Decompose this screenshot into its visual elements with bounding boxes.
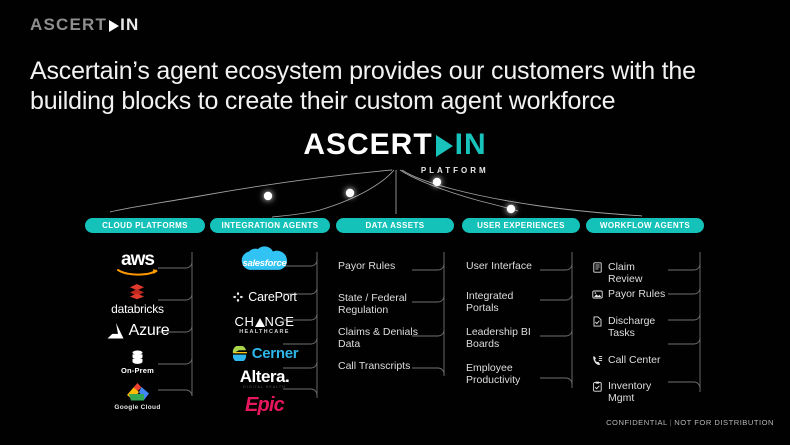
- slide-canvas: ASCERT IN Ascertain’s agent ecosystem pr…: [0, 0, 790, 445]
- pill-user-experiences[interactable]: USER EXPERIENCES: [462, 218, 580, 233]
- brand-suffix: IN: [120, 15, 139, 35]
- aws-label: aws: [117, 252, 159, 267]
- document-lines-icon: [592, 262, 603, 273]
- list-item: Payor Rules: [592, 288, 672, 315]
- list-item: Employee Productivity: [466, 362, 544, 394]
- list-item: Integrated Portals: [466, 290, 544, 326]
- epic-label: Epic: [245, 394, 284, 417]
- play-triangle-icon: [436, 135, 453, 157]
- platform-logo-prefix: ASCERT: [303, 128, 432, 162]
- databricks-mark-icon: [129, 283, 145, 300]
- pill-cloud-platforms[interactable]: CLOUD PLATFORMS: [85, 218, 205, 233]
- list-item: Claim Review: [592, 261, 672, 288]
- list-item-label: Inventory Mgmt: [608, 380, 672, 404]
- triangle-a-icon: [255, 318, 265, 327]
- pill-workflow-agents[interactable]: WORKFLOW AGENTS: [586, 218, 704, 233]
- list-item: Payor Rules: [338, 260, 418, 292]
- list-item-label: Call Center: [608, 354, 661, 366]
- list-item: Discharge Tasks: [592, 315, 672, 354]
- logo-databricks: databricks: [85, 282, 190, 316]
- databricks-label: databricks: [111, 302, 164, 316]
- azure-mark-icon: [106, 322, 126, 340]
- list-item: Leadership BI Boards: [466, 326, 544, 362]
- list-item-label: Claim Review: [608, 261, 672, 285]
- footer-right: NOT FOR DISTRIBUTION: [674, 418, 774, 427]
- page-title: Ascertain’s agent ecosystem provides our…: [30, 56, 760, 116]
- logo-salesforce: salesforce: [212, 244, 317, 284]
- cerner-mark-icon: [231, 346, 249, 361]
- column-workflow-agents: Claim Review Payor Rules Discharge Tasks…: [592, 261, 672, 419]
- list-item: Call Center: [592, 354, 672, 380]
- logo-change-healthcare: CHNGE HEALTHCARE: [212, 310, 317, 340]
- list-item-label: Discharge Tasks: [608, 315, 672, 339]
- platform-logo: ASCERT IN PLATFORM: [0, 128, 790, 162]
- connector-nodes: [264, 178, 515, 213]
- logo-altera: Altera. DIGITAL HEALTH: [212, 366, 317, 392]
- azure-label: Azure: [129, 322, 170, 340]
- list-item: State / Federal Regulation: [338, 292, 418, 326]
- platform-logo-subtitle: PLATFORM: [421, 166, 489, 175]
- list-item-label: Payor Rules: [608, 288, 665, 300]
- careport-mark-icon: [232, 291, 244, 303]
- logo-azure: Azure: [85, 316, 190, 346]
- cerner-label: Cerner: [252, 345, 299, 362]
- google-cloud-label: Google Cloud: [114, 404, 160, 411]
- ascertain-brand-logo: ASCERT IN: [30, 15, 140, 35]
- logo-aws: aws: [85, 246, 190, 282]
- card-image-icon: [592, 289, 603, 300]
- careport-label: CarePort: [248, 290, 296, 304]
- google-cloud-mark-icon: [124, 382, 151, 403]
- logo-google-cloud: Google Cloud: [85, 378, 190, 414]
- pill-integration-agents[interactable]: INTEGRATION AGENTS: [210, 218, 330, 233]
- logo-epic: Epic: [212, 392, 317, 418]
- column-user-experiences: User Interface Integrated Portals Leader…: [466, 260, 544, 394]
- footer-left: CONFIDENTIAL: [606, 418, 668, 427]
- logo-cerner: Cerner: [212, 340, 317, 366]
- clipboard-check-icon: [592, 381, 603, 392]
- database-icon: [131, 350, 144, 365]
- column-integration-agents: salesforce CarePort CHNGE HEALTHCARE: [212, 244, 317, 418]
- logo-on-prem: On-Prem: [85, 346, 190, 378]
- document-check-icon: [592, 316, 603, 327]
- list-item: Inventory Mgmt: [592, 380, 672, 419]
- footer-separator: |: [670, 418, 672, 427]
- footer-confidential-notice: CONFIDENTIAL|NOT FOR DISTRIBUTION: [606, 418, 774, 427]
- altera-sublabel: DIGITAL HEALTH: [240, 385, 289, 389]
- on-prem-label: On-Prem: [121, 366, 154, 375]
- column-cloud-platforms: aws databricks: [85, 246, 190, 414]
- platform-logo-suffix: IN: [455, 128, 487, 162]
- salesforce-label: salesforce: [234, 258, 296, 269]
- column-data-assets: Payor Rules State / Federal Regulation C…: [338, 260, 418, 392]
- change-healthcare-sublabel: HEALTHCARE: [235, 329, 295, 335]
- altera-label: Altera.: [240, 369, 289, 385]
- play-triangle-icon: [109, 20, 119, 32]
- list-item: Call Transcripts: [338, 360, 418, 392]
- pill-data-assets[interactable]: DATA ASSETS: [336, 218, 454, 233]
- list-item: Claims & Denials Data: [338, 326, 418, 360]
- phone-signal-icon: [592, 355, 603, 366]
- logo-careport: CarePort: [212, 284, 317, 310]
- list-item: User Interface: [466, 260, 544, 290]
- brand-prefix: ASCERT: [30, 15, 107, 35]
- change-healthcare-label: CHNGE: [235, 315, 295, 329]
